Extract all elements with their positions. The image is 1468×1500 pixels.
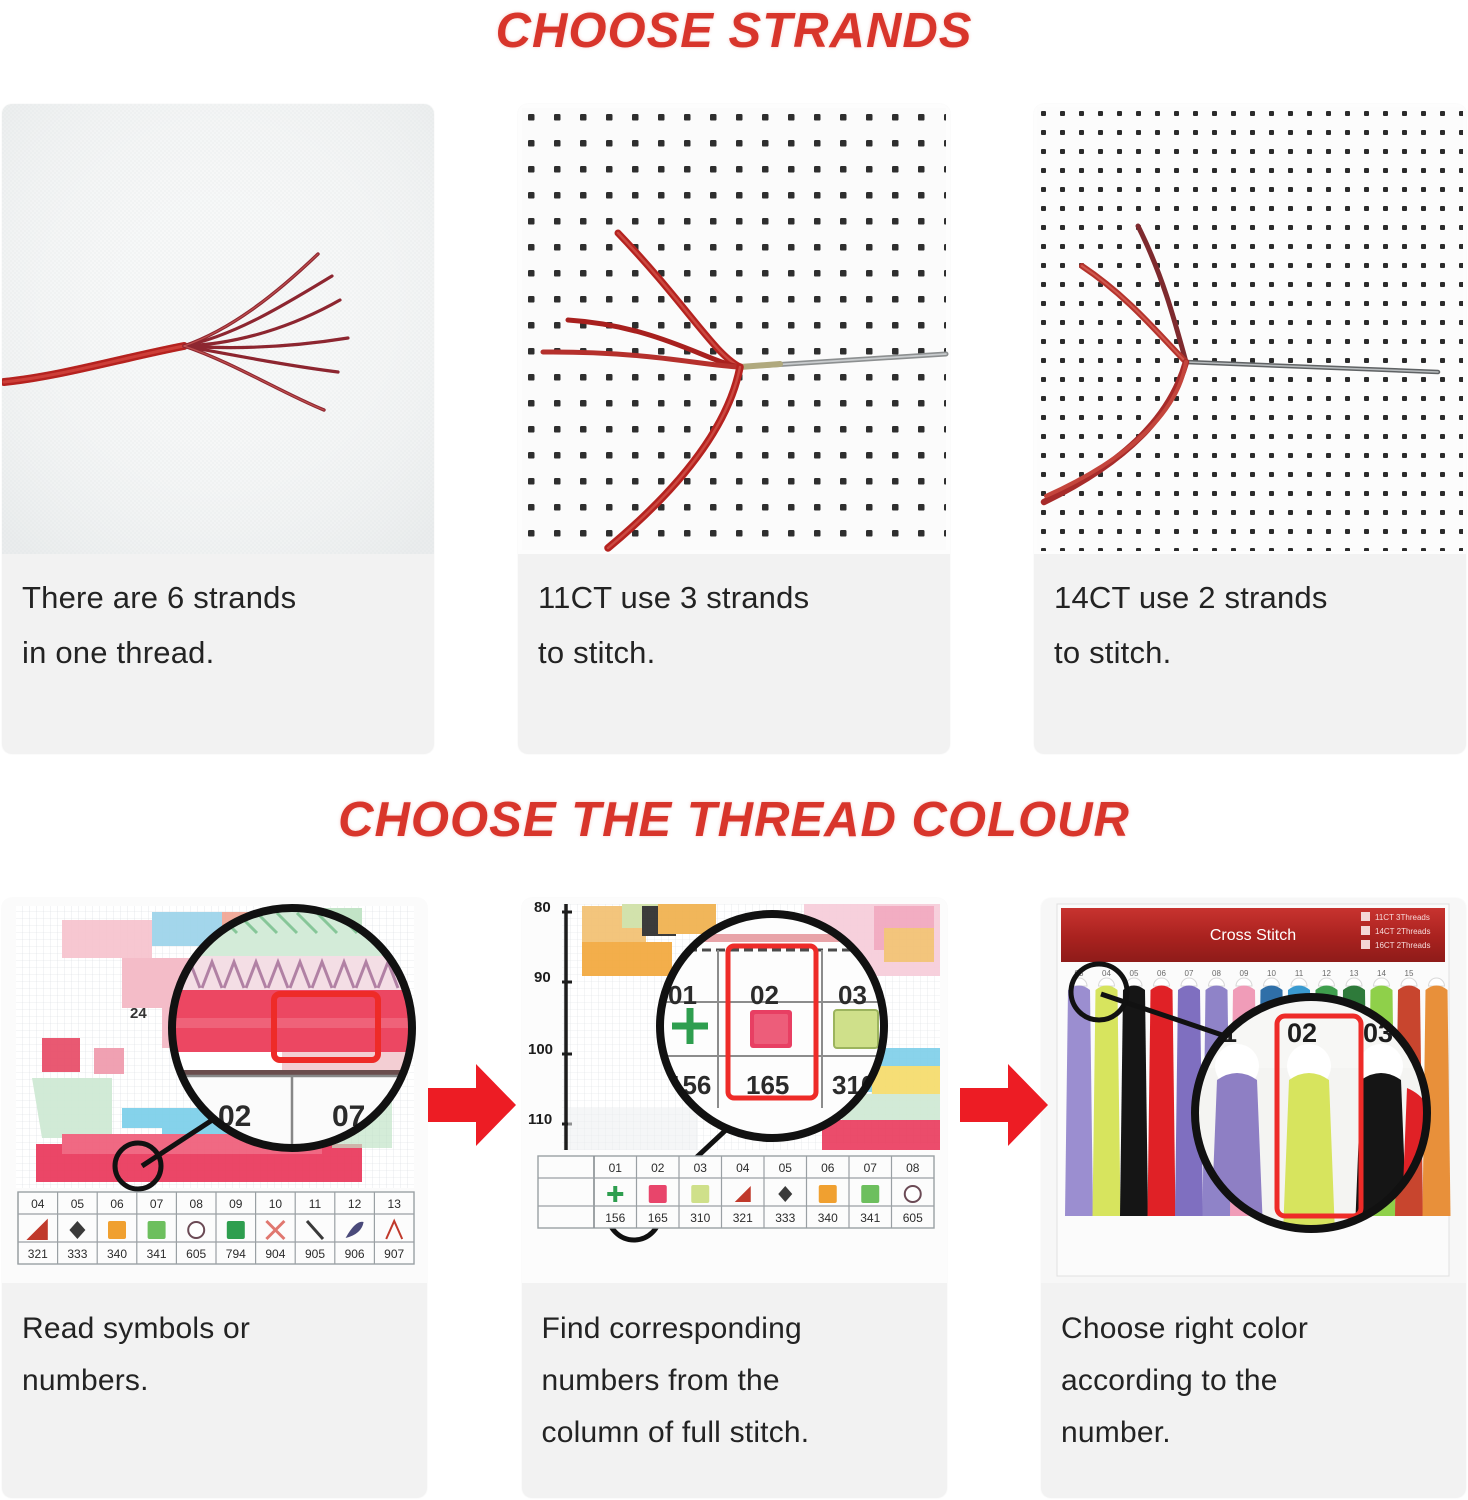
arrow-right-icon bbox=[960, 1062, 1048, 1148]
caption-line-2: numbers from the bbox=[542, 1355, 927, 1407]
caption-line-2: in one thread. bbox=[22, 625, 414, 680]
skein-label: 12 bbox=[1322, 969, 1331, 978]
caption-find-numbers: Find corresponding numbers from the colu… bbox=[522, 1283, 947, 1469]
six-strands-illustration bbox=[2, 104, 434, 554]
chart-cell-label: 24 bbox=[130, 1005, 147, 1022]
skein-label: 05 bbox=[1130, 969, 1139, 978]
skein-label: 11 bbox=[1295, 969, 1304, 978]
legend-symbol bbox=[861, 1185, 879, 1203]
magnifier-col-01: 01 bbox=[668, 980, 697, 1010]
checkbox-icon bbox=[1361, 940, 1370, 949]
caption-read-symbols: Read symbols or numbers. bbox=[2, 1283, 427, 1417]
photo-pattern-symbols: 24 bbox=[2, 898, 427, 1283]
legend-dmc-number: 904 bbox=[265, 1247, 285, 1261]
caption-line-2: to stitch. bbox=[1054, 625, 1446, 680]
caption-line-3: number. bbox=[1061, 1407, 1446, 1459]
skein-label: 14 bbox=[1377, 969, 1386, 978]
skein-label: 08 bbox=[1212, 969, 1221, 978]
caption-line-2: according to the bbox=[1061, 1355, 1446, 1407]
card-checklist-item: 16CT 2Threads bbox=[1375, 941, 1430, 950]
card-checklist-item: 11CT 3Threads bbox=[1375, 913, 1430, 922]
thread-colour-card-row: 24 bbox=[0, 898, 1468, 1498]
caption-choose-color: Choose right color according to the numb… bbox=[1041, 1283, 1466, 1469]
legend-dmc-number: 165 bbox=[647, 1211, 667, 1225]
strands-card-row: There are 6 strands in one thread. bbox=[0, 104, 1468, 754]
legend-column-header: 05 bbox=[71, 1197, 85, 1211]
legend-column-header: 07 bbox=[863, 1161, 877, 1175]
legend-symbol bbox=[691, 1185, 709, 1203]
caption-line-3: column of full stitch. bbox=[542, 1407, 927, 1459]
caption-line-2: to stitch. bbox=[538, 625, 930, 680]
axis-label-90: 90 bbox=[534, 969, 551, 986]
arrow-right-icon bbox=[428, 1062, 516, 1148]
legend-column-header: 12 bbox=[348, 1197, 362, 1211]
legend-symbol bbox=[904, 1186, 920, 1202]
legend-column-header: 08 bbox=[906, 1161, 920, 1175]
legend-dmc-number: 156 bbox=[605, 1211, 625, 1225]
photo-pattern-numbers: 80 90 100 110 bbox=[522, 898, 947, 1283]
photo-six-strands bbox=[2, 104, 434, 554]
legend-symbol bbox=[227, 1221, 245, 1239]
step-arrow-2 bbox=[960, 1062, 1048, 1148]
legend-column-header: 04 bbox=[736, 1161, 750, 1175]
legend-symbol bbox=[148, 1221, 166, 1239]
aida-14ct-illustration bbox=[1034, 104, 1466, 554]
caption-line-1: 11CT use 3 strands bbox=[538, 570, 930, 625]
thread-card-illustration: Cross Stitch 11CT 3Threads14CT 2Threads1… bbox=[1041, 898, 1466, 1283]
photo-14ct-aida bbox=[1034, 104, 1466, 554]
legend-symbol bbox=[188, 1222, 204, 1238]
legend-column-header: 02 bbox=[651, 1161, 665, 1175]
skein-label: 04 bbox=[1102, 969, 1111, 978]
skein-label: 10 bbox=[1267, 969, 1276, 978]
infographic-page: CHOOSE STRANDS bbox=[0, 0, 1468, 1500]
caption-11ct: 11CT use 3 strands to stitch. bbox=[518, 554, 950, 690]
step-arrow-1 bbox=[428, 1062, 516, 1148]
magnifier-num-165: 165 bbox=[746, 1070, 789, 1100]
skein-label: 13 bbox=[1350, 969, 1359, 978]
thread-card-title: Cross Stitch bbox=[1210, 927, 1296, 944]
legend-table: 0432105333063400734108605097941090411905… bbox=[18, 1192, 414, 1264]
magnifier-col-03: 03 bbox=[838, 980, 867, 1010]
card-read-symbols: 24 bbox=[2, 898, 427, 1498]
caption-line-1: There are 6 strands bbox=[22, 570, 414, 625]
legend-column-header: 10 bbox=[269, 1197, 283, 1211]
axis-label-110: 110 bbox=[528, 1111, 552, 1128]
axis-label-100: 100 bbox=[528, 1041, 553, 1058]
photo-11ct-aida bbox=[518, 104, 950, 554]
legend-dmc-number: 333 bbox=[67, 1247, 87, 1261]
card-find-numbers: 80 90 100 110 bbox=[522, 898, 947, 1498]
legend-dmc-number: 333 bbox=[775, 1211, 795, 1225]
thread-skein bbox=[1120, 986, 1148, 1217]
legend-symbol bbox=[818, 1185, 836, 1203]
legend-column-header: 13 bbox=[388, 1197, 402, 1211]
legend-dmc-number: 794 bbox=[226, 1247, 246, 1261]
legend-dmc-number: 906 bbox=[345, 1247, 365, 1261]
legend-column-header: 07 bbox=[150, 1197, 164, 1211]
legend-column-header: 06 bbox=[110, 1197, 124, 1211]
skein-label: 15 bbox=[1405, 969, 1414, 978]
card-11ct-three-strands: 11CT use 3 strands to stitch. bbox=[518, 104, 950, 754]
legend-dmc-number: 907 bbox=[384, 1247, 404, 1261]
legend-dmc-number: 605 bbox=[186, 1247, 206, 1261]
caption-line-1: 14CT use 2 strands bbox=[1054, 570, 1446, 625]
legend-dmc-number: 605 bbox=[902, 1211, 922, 1225]
aida-11ct-illustration bbox=[518, 104, 950, 554]
legend-symbol bbox=[648, 1185, 666, 1203]
legend-column-header: 11 bbox=[309, 1197, 322, 1211]
legend-dmc-number: 340 bbox=[107, 1247, 127, 1261]
legend-column-header: 06 bbox=[821, 1161, 835, 1175]
legend-symbol bbox=[108, 1221, 126, 1239]
page-title-choose-strands: CHOOSE STRANDS bbox=[0, 0, 1468, 62]
skein-label: 07 bbox=[1185, 969, 1194, 978]
legend-dmc-number: 341 bbox=[147, 1247, 167, 1261]
legend-column-header: 08 bbox=[190, 1197, 204, 1211]
legend-dmc-number: 340 bbox=[817, 1211, 837, 1225]
checkbox-icon bbox=[1361, 926, 1370, 935]
legend-column-header: 03 bbox=[693, 1161, 707, 1175]
legend-dmc-number: 321 bbox=[28, 1247, 48, 1261]
card-14ct-two-strands: 14CT use 2 strands to stitch. bbox=[1034, 104, 1466, 754]
legend-table: 0115602165033100432105333063400734108605 bbox=[538, 1156, 934, 1228]
caption-14ct: 14CT use 2 strands to stitch. bbox=[1034, 554, 1466, 690]
legend-column-header: 09 bbox=[229, 1197, 243, 1211]
caption-line-1: Find corresponding bbox=[542, 1303, 927, 1355]
skein-label: 09 bbox=[1240, 969, 1249, 978]
caption-line-1: Choose right color bbox=[1061, 1303, 1446, 1355]
card-checklist-item: 14CT 2Threads bbox=[1375, 927, 1430, 936]
legend-dmc-number: 321 bbox=[732, 1211, 752, 1225]
photo-thread-card: Cross Stitch 11CT 3Threads14CT 2Threads1… bbox=[1041, 898, 1466, 1283]
axis-label-80: 80 bbox=[534, 899, 551, 916]
legend-dmc-number: 310 bbox=[690, 1211, 710, 1225]
caption-six-strands: There are 6 strands in one thread. bbox=[2, 554, 434, 690]
magnifier-col-02: 02 bbox=[1287, 1018, 1317, 1048]
legend-column-header: 05 bbox=[778, 1161, 792, 1175]
card-six-strands: There are 6 strands in one thread. bbox=[2, 104, 434, 754]
skein-label: 06 bbox=[1157, 969, 1166, 978]
page-title-choose-thread-colour: CHOOSE THE THREAD COLOUR bbox=[0, 789, 1468, 851]
pattern-chart-symbols-illustration: 24 bbox=[2, 898, 427, 1283]
legend-dmc-number: 905 bbox=[305, 1247, 325, 1261]
legend-dmc-number: 341 bbox=[860, 1211, 880, 1225]
card-choose-color: Cross Stitch 11CT 3Threads14CT 2Threads1… bbox=[1041, 898, 1466, 1498]
pattern-chart-numbers-illustration: 80 90 100 110 bbox=[522, 898, 947, 1283]
checkbox-icon bbox=[1361, 912, 1370, 921]
legend-column-header: 04 bbox=[31, 1197, 45, 1211]
caption-line-2: numbers. bbox=[22, 1355, 407, 1407]
legend-column-header: 01 bbox=[608, 1161, 622, 1175]
magnifier-col-02: 02 bbox=[750, 980, 779, 1010]
caption-line-1: Read symbols or bbox=[22, 1303, 407, 1355]
